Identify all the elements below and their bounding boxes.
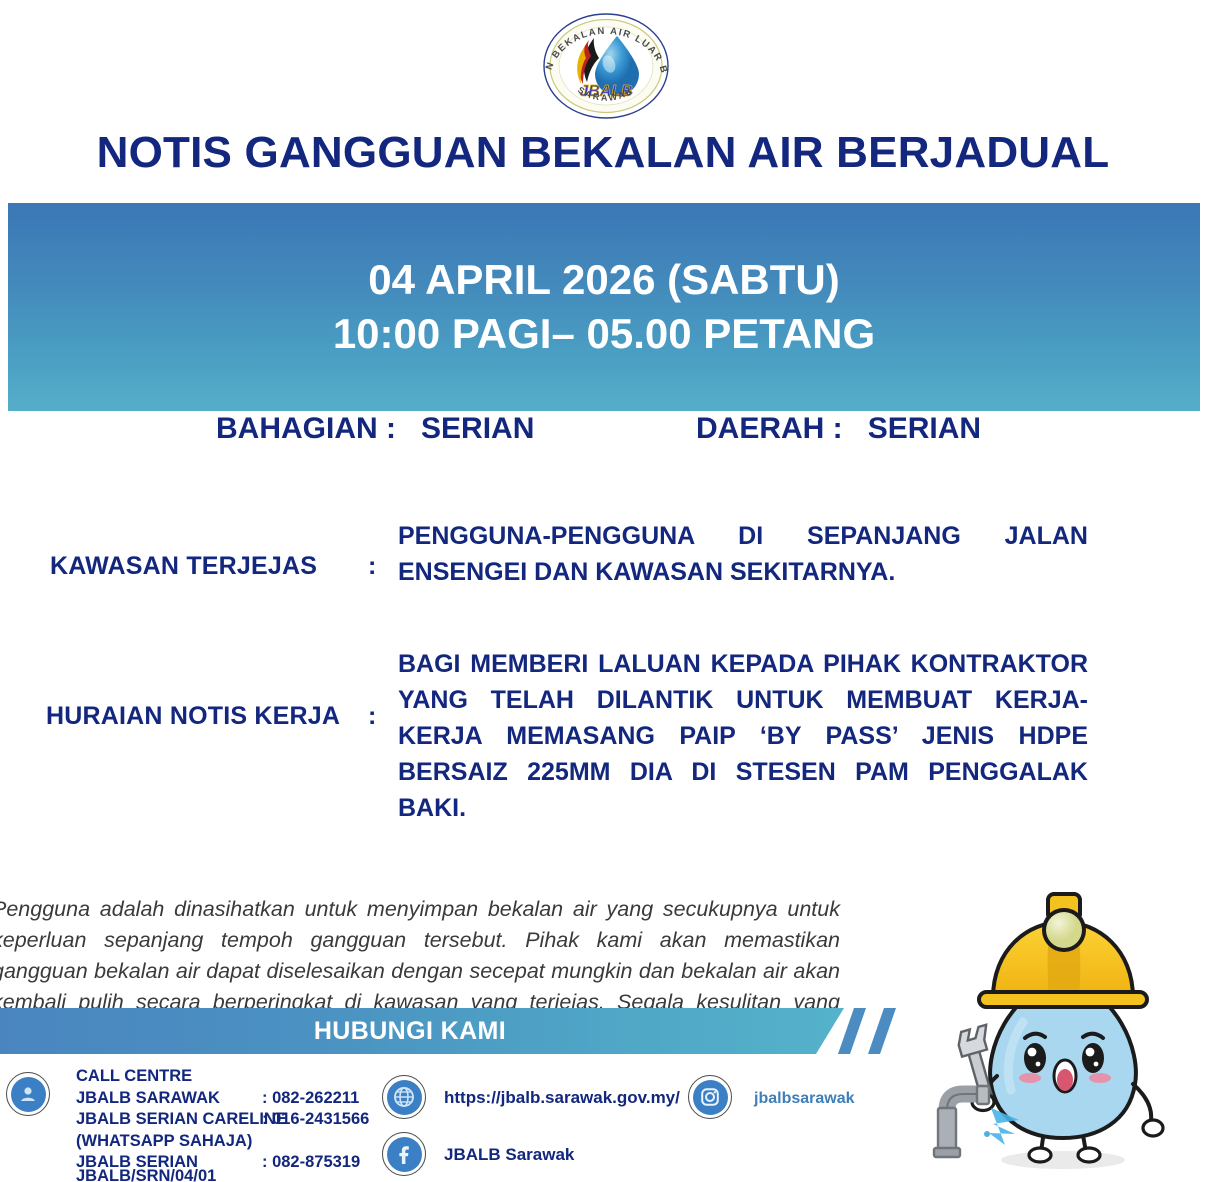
instagram-handle[interactable]: jbalbsarawak [754,1090,855,1108]
reference-number: JBALB/SRN/04/01 [76,1167,216,1182]
bahagian-value: SERIAN [421,412,534,445]
contact-line-0: JBALB SARAWAK : 082-262211 [76,1088,376,1110]
banner-stripe-2 [868,1008,896,1054]
contact-name-1: JBALB SERIAN CARELINE [76,1110,287,1128]
website-url[interactable]: https://jbalb.sarawak.gov.my/ [444,1088,680,1108]
division-row: BAHAGIAN : SERIAN DAERAH : SERIAN [0,412,1206,458]
water-drop-mascot [905,872,1205,1182]
contact-number-1[interactable]: : 016-2431566 [262,1109,369,1131]
contact-heading: HUBUNGI KAMI [0,1008,820,1054]
contact-banner: HUBUNGI KAMI [0,1008,906,1054]
daerah-field: DAERAH : SERIAN [696,412,981,446]
call-centre-title: CALL CENTRE [76,1066,376,1088]
bahagian-field: BAHAGIAN : SERIAN [216,412,534,446]
schedule-time: 10:00 PAGI– 05.00 PETANG [333,309,875,359]
schedule-banner: 04 APRIL 2026 (SABTU) 10:00 PAGI– 05.00 … [8,203,1200,411]
call-centre-block: CALL CENTRE JBALB SARAWAK : 082-262211 J… [76,1066,376,1174]
huraian-notis-kerja-label: HURAIAN NOTIS KERJA [46,702,340,731]
jbalb-logo: JABATAN BEKALAN AIR LUAR BANDAR JBALB SA… [531,12,681,120]
daerah-value: SERIAN [868,412,981,445]
person-icon [6,1072,50,1116]
huraian-colon: : [368,702,376,731]
kawasan-terjejas-label: KAWASAN TERJEJAS [50,552,317,581]
contact-number-3[interactable]: : 082-875319 [262,1152,360,1174]
instagram-icon[interactable] [688,1075,732,1119]
page-title: NOTIS GANGGUAN BEKALAN AIR BERJADUAL [0,128,1206,178]
contact-line-1: JBALB SERIAN CARELINE : 016-2431566 [76,1109,376,1131]
contact-number-0[interactable]: : 082-262211 [262,1088,359,1110]
globe-icon[interactable] [382,1075,426,1119]
huraian-notis-kerja-value: BAGI MEMBERI LALUAN KEPADA PIHAK KONTRAK… [398,646,1088,826]
kawasan-terjejas-value: PENGGUNA-PENGGUNA DI SEPANJANG JALAN ENS… [398,518,1088,590]
facebook-handle[interactable]: JBALB Sarawak [444,1145,574,1165]
daerah-label: DAERAH : [696,412,843,445]
bahagian-label: BAHAGIAN : [216,412,396,445]
facebook-icon[interactable] [382,1132,426,1176]
kawasan-colon: : [368,552,376,581]
contact-name-2: (WHATSAPP SAHAJA) [76,1132,252,1150]
notice-poster: JABATAN BEKALAN AIR LUAR BANDAR JBALB SA… [0,0,1206,1182]
contact-name-0: JBALB SARAWAK [76,1089,220,1107]
banner-stripe-1 [838,1008,866,1054]
schedule-date: 04 APRIL 2026 (SABTU) [368,255,839,305]
contact-line-2: (WHATSAPP SAHAJA) [76,1131,376,1153]
